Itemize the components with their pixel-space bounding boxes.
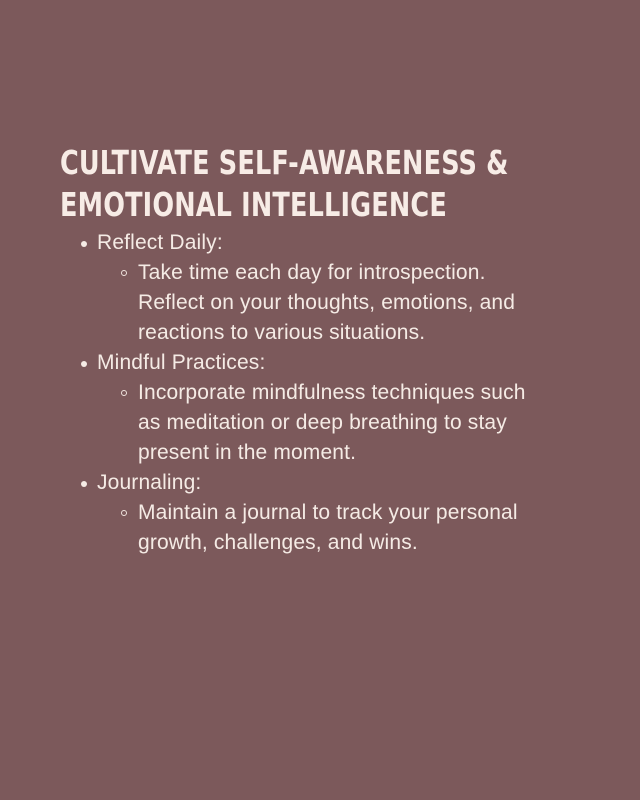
- list-item: Reflect Daily: Take time each day for in…: [60, 228, 580, 348]
- slide-canvas: CULTIVATE SELF-AWARENESS & EMOTIONAL INT…: [0, 0, 640, 800]
- hollow-circle-icon: [121, 270, 127, 276]
- sub-list-item: Maintain a journal to track your persona…: [60, 498, 538, 558]
- hollow-circle-icon: [121, 510, 127, 516]
- list-item: Mindful Practices: Incorporate mindfulne…: [60, 348, 580, 468]
- content-body: Reflect Daily: Take time each day for in…: [60, 228, 580, 558]
- title-line-2: EMOTIONAL INTELLIGENCE: [60, 184, 507, 226]
- filled-disc-icon: [81, 241, 87, 247]
- sub-bullet-text: Incorporate mindfulness techniques such …: [138, 381, 526, 464]
- sub-bullet-text: Take time each day for introspection. Re…: [138, 261, 515, 344]
- filled-disc-icon: [81, 481, 87, 487]
- page-title: CULTIVATE SELF-AWARENESS & EMOTIONAL INT…: [60, 142, 580, 226]
- bullet-heading-label: Mindful Practices:: [97, 351, 265, 374]
- bullet-heading-row: Reflect Daily:: [60, 228, 580, 258]
- bullet-heading-label: Reflect Daily:: [97, 231, 223, 254]
- sub-list-item: Incorporate mindfulness techniques such …: [60, 378, 538, 468]
- title-line-1: CULTIVATE SELF-AWARENESS &: [60, 142, 507, 184]
- sub-bullet-text: Maintain a journal to track your persona…: [138, 501, 518, 554]
- sub-list-item: Take time each day for introspection. Re…: [60, 258, 538, 348]
- bullet-heading-row: Journaling:: [60, 468, 580, 498]
- sub-bullet-list: Maintain a journal to track your persona…: [60, 498, 580, 558]
- list-item: Journaling: Maintain a journal to track …: [60, 468, 580, 558]
- filled-disc-icon: [81, 361, 87, 367]
- sub-bullet-list: Take time each day for introspection. Re…: [60, 258, 580, 348]
- bullet-list: Reflect Daily: Take time each day for in…: [60, 228, 580, 558]
- bullet-heading-label: Journaling:: [97, 471, 201, 494]
- sub-bullet-list: Incorporate mindfulness techniques such …: [60, 378, 580, 468]
- bullet-heading-row: Mindful Practices:: [60, 348, 580, 378]
- hollow-circle-icon: [121, 390, 127, 396]
